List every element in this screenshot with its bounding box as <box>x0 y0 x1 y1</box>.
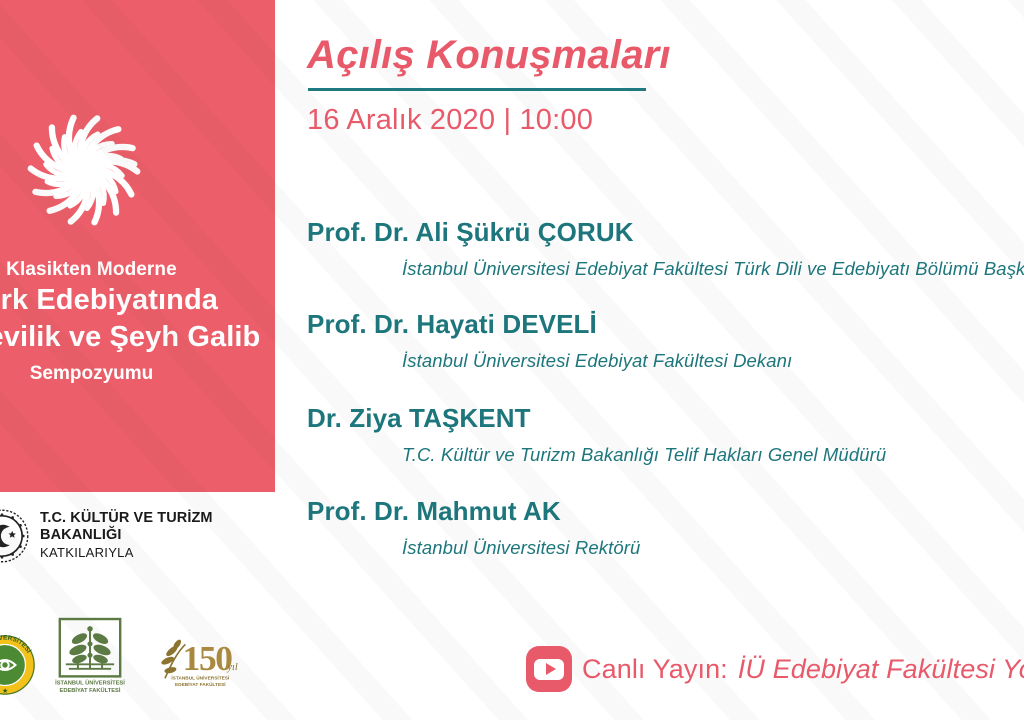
session-datetime: 16 Aralık 2020 | 10:00 <box>307 104 593 137</box>
speaker-title: İstanbul Üniversitesi Edebiyat Fakültesi… <box>402 350 792 372</box>
speaker-title: T.C. Kültür ve Turizm Bakanlığı Telif Ha… <box>402 444 886 466</box>
150-yil-anniversary-logo: 150 yıl İSTANBUL ÜNİVERSİTESİ EDEBİYAT F… <box>156 628 246 701</box>
edebiyat-logo-caption-2: EDEBİYAT FAKÜLTESİ <box>60 687 121 694</box>
speaker-name: Prof. Dr. Mahmut AK <box>307 496 561 527</box>
edebiyat-fakultesi-logo: İSTANBUL ÜNİVERSİTESİ EDEBİYAT FAKÜLTESİ <box>52 616 128 701</box>
play-triangle-icon <box>546 663 556 675</box>
ministry-line-3: KATKILARIYLA <box>40 545 213 562</box>
ministry-sponsor-text: T.C. KÜLTÜR VE TURİZM BAKANLIĞI KATKILAR… <box>40 510 213 562</box>
svg-text:yıl: yıl <box>227 662 238 673</box>
live-stream-banner[interactable]: Canlı Yayın: İÜ Edebiyat Fakültesi YouTu… <box>526 646 1024 692</box>
live-stream-channel: İÜ Edebiyat Fakültesi YouTube <box>738 654 1024 685</box>
tc-ministry-seal-icon <box>0 508 30 564</box>
svg-text:150: 150 <box>183 638 233 678</box>
speaker-name: Prof. Dr. Hayati DEVELİ <box>307 309 597 340</box>
speaker-name: Dr. Ziya TAŞKENT <box>307 403 531 434</box>
page-title: Açılış Konuşmaları <box>307 33 671 78</box>
youtube-icon[interactable] <box>526 646 572 692</box>
speaker-name: Prof. Dr. Ali Şükrü ÇORUK <box>307 217 634 248</box>
svg-text:★: ★ <box>2 687 8 695</box>
presentation-slide: Klasikten Moderne Türk Edebiyatında Mevl… <box>0 0 1024 720</box>
ministry-line-2: BAKANLIĞI <box>40 527 213 544</box>
speaker-title: İstanbul Üniversitesi Rektörü <box>402 537 640 559</box>
svg-text:EDEBİYAT FAKÜLTESİ: EDEBİYAT FAKÜLTESİ <box>175 681 226 688</box>
partner-logo-row: ÜNİVERSİTESİ ★ <box>0 616 246 701</box>
speaker-title: İstanbul Üniversitesi Edebiyat Fakültesi… <box>402 258 1024 280</box>
edebiyat-logo-caption-1: İSTANBUL ÜNİVERSİTESİ <box>55 680 125 687</box>
youtube-icon-body <box>534 659 564 680</box>
istanbul-universitesi-seal-logo: ÜNİVERSİTESİ ★ <box>0 634 36 701</box>
ministry-sponsor-block: T.C. KÜLTÜR VE TURİZM BAKANLIĞI KATKILAR… <box>0 508 213 564</box>
title-underline-divider <box>308 88 646 91</box>
live-stream-label: Canlı Yayın: <box>582 654 728 685</box>
ministry-line-1: T.C. KÜLTÜR VE TURİZM <box>40 510 213 527</box>
